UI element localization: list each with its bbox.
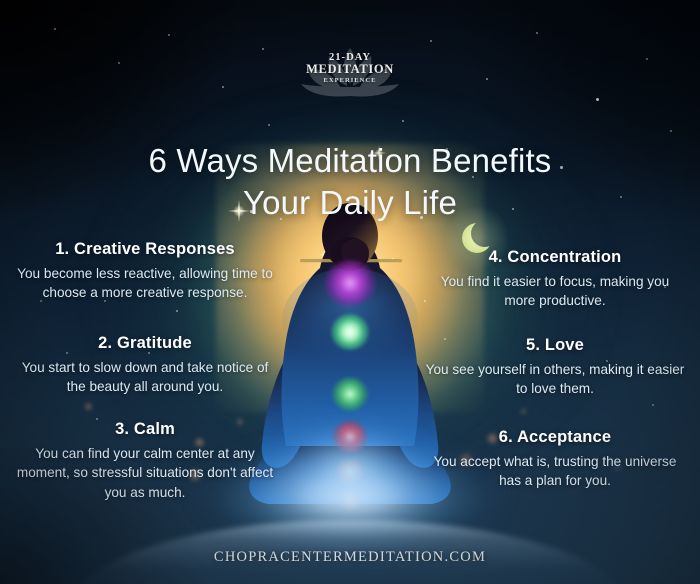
logo-line-2: MEDITATION <box>295 63 405 77</box>
title-line-2: Your Daily Life <box>0 182 700 224</box>
benefit-heading: 2. Gratitude <box>14 334 276 353</box>
benefit-item-love: 5. Love You see yourself in others, maki… <box>424 336 686 399</box>
benefit-body: You find it easier to focus, making you … <box>424 272 686 311</box>
benefit-heading: 4. Concentration <box>424 248 686 267</box>
benefit-body: You become less reactive, allowing time … <box>14 264 276 303</box>
chakra-throat <box>331 314 369 350</box>
infographic-poster: 21-DAY MEDITATION EXPERIENCE 6 Ways Medi… <box>0 0 700 584</box>
footer-website-url[interactable]: CHOPRACENTERMEDITATION.COM <box>0 549 700 566</box>
benefit-item-calm: 3. Calm You can find your calm center at… <box>14 420 276 502</box>
logo-21-day-meditation-experience[interactable]: 21-DAY MEDITATION EXPERIENCE <box>295 44 405 102</box>
title-line-1: 6 Ways Meditation Benefits <box>149 142 552 179</box>
benefit-body: You accept what is, trusting the univers… <box>424 452 686 491</box>
benefit-heading: 5. Love <box>424 336 686 355</box>
benefit-item-concentration: 4. Concentration You find it easier to f… <box>424 248 686 311</box>
benefit-item-acceptance: 6. Acceptance You accept what is, trusti… <box>424 428 686 491</box>
benefit-body: You see yourself in others, making it ea… <box>424 360 686 399</box>
benefit-heading: 3. Calm <box>14 420 276 439</box>
benefit-heading: 6. Acceptance <box>424 428 686 447</box>
benefit-body: You start to slow down and take notice o… <box>14 358 276 397</box>
base-light-core <box>255 405 445 535</box>
chakra-third-eye <box>324 260 376 306</box>
benefit-item-creative-responses: 1. Creative Responses You become less re… <box>14 240 276 303</box>
benefit-body: You can find your calm center at any mom… <box>14 444 276 502</box>
benefit-item-gratitude: 2. Gratitude You start to slow down and … <box>14 334 276 397</box>
logo-line-3: EXPERIENCE <box>295 77 405 84</box>
benefit-heading: 1. Creative Responses <box>14 240 276 259</box>
page-title: 6 Ways Meditation Benefits Your Daily Li… <box>0 140 700 224</box>
